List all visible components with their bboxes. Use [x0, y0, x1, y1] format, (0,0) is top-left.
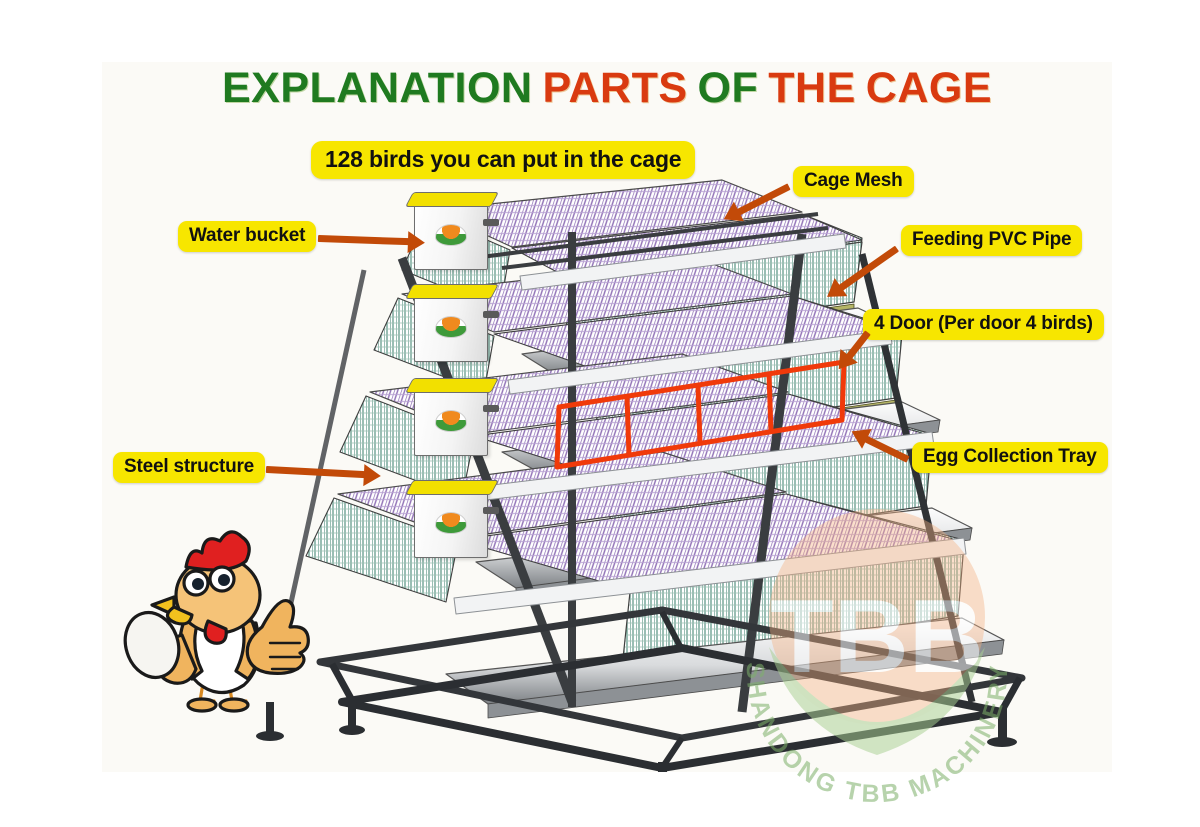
bucket-lid-icon	[405, 480, 499, 495]
callout-cage-mesh: Cage Mesh	[793, 166, 914, 197]
callout-capacity: 128 birds you can put in the cage	[311, 141, 695, 179]
callout-water-bucket: Water bucket	[178, 221, 316, 252]
rooster-mascot-icon	[112, 517, 327, 717]
bucket-brand-logo-icon	[435, 512, 467, 534]
bucket-lid-icon	[405, 378, 499, 393]
bucket-lid-icon	[405, 192, 499, 207]
callout-steel-structure: Steel structure	[113, 452, 265, 483]
title-word-2: PARTS	[543, 64, 688, 113]
water-bucket-2	[414, 294, 488, 362]
callout-door: 4 Door (Per door 4 birds)	[863, 309, 1104, 340]
bucket-spout-icon	[483, 311, 499, 318]
bucket-brand-logo-icon	[435, 410, 467, 432]
water-bucket-3	[414, 388, 488, 456]
title-word-1: EXPLANATION	[222, 64, 533, 113]
page-title: EXPLANATIONPARTSOFTHECAGE	[102, 64, 1112, 113]
title-word-3: OF	[698, 64, 759, 113]
callout-feeding-pvc-pipe: Feeding PVC Pipe	[901, 225, 1082, 256]
water-bucket-4	[414, 490, 488, 558]
bucket-brand-logo-icon	[435, 224, 467, 246]
door-divider-1	[627, 396, 629, 456]
door-divider-2	[698, 385, 700, 444]
title-word-4: THE	[768, 64, 856, 113]
bucket-spout-icon	[483, 405, 499, 412]
bucket-spout-icon	[483, 219, 499, 226]
door-divider-3	[769, 374, 771, 432]
title-word-5: CAGE	[866, 64, 992, 113]
screenshot-root: TBB SHANDONG TBB MACHINERY	[0, 0, 1200, 800]
bucket-spout-icon	[483, 507, 499, 514]
bucket-lid-icon	[405, 284, 499, 299]
bucket-brand-logo-icon	[435, 316, 467, 338]
callout-egg-collection-tray: Egg Collection Tray	[912, 442, 1108, 473]
